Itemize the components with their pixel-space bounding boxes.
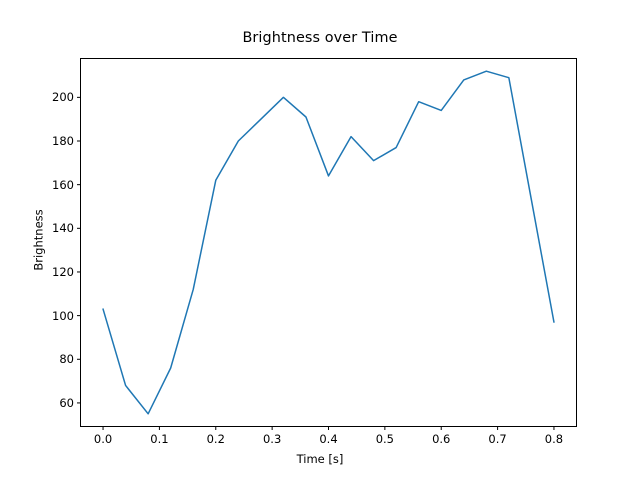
plot-area [0, 0, 640, 480]
axis-tick-marks [77, 97, 554, 430]
axes-frame [81, 59, 577, 427]
chart-figure: Brightness over Time Brightness Time [s]… [0, 0, 640, 480]
data-series-line [103, 71, 554, 414]
